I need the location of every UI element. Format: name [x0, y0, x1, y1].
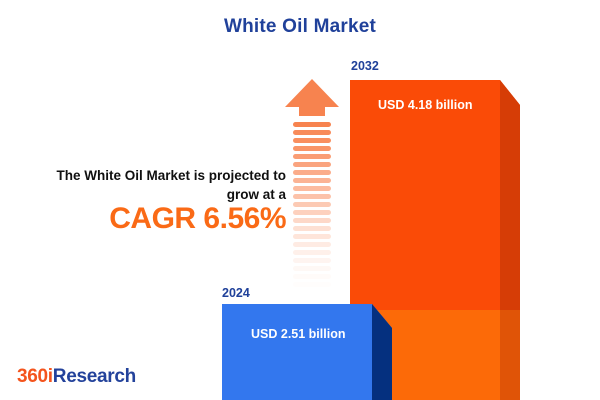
growth-arrow-icon	[284, 78, 340, 290]
bar-label-2032: 2032	[351, 59, 379, 73]
brand-logo-360i: 360i	[17, 366, 53, 387]
growth-statement-line2: grow at a	[227, 187, 286, 202]
infographic-canvas: White Oil Market The White Oil Market is…	[0, 0, 600, 400]
page-title: White Oil Market	[0, 16, 600, 38]
growth-statement-line1: The White Oil Market is projected to	[56, 168, 286, 183]
brand-logo: 360iResearch	[17, 366, 136, 388]
cagr-value: CAGR 6.56%	[8, 202, 286, 236]
bar-value-2032: USD 4.18 billion	[378, 98, 472, 112]
bar-label-2024: 2024	[222, 286, 250, 300]
brand-logo-research: Research	[53, 366, 136, 387]
growth-statement: The White Oil Market is projected to gro…	[8, 166, 286, 204]
bar-value-2024: USD 2.51 billion	[251, 327, 345, 341]
